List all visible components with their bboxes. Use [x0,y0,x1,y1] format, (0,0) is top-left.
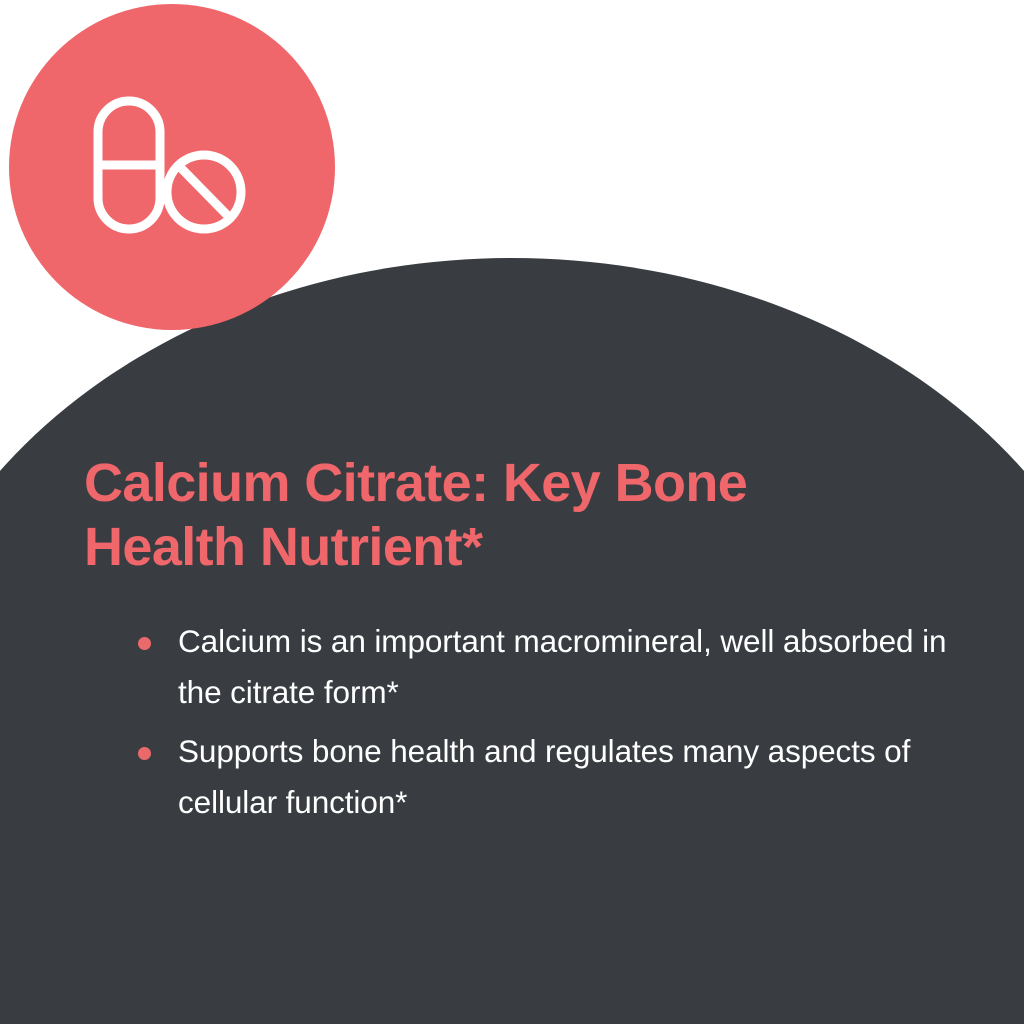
list-item: Calcium is an important macromineral, we… [128,616,968,718]
benefits-list: Calcium is an important macromineral, we… [128,616,968,836]
list-item-text: Supports bone health and regulates many … [178,733,910,820]
list-item: Supports bone health and regulates many … [128,726,968,828]
list-item-text: Calcium is an important macromineral, we… [178,623,946,710]
bullet-dot-icon [138,747,151,760]
infographic-card: Calcium Citrate: Key Bone Health Nutrien… [0,0,1024,1024]
page-title: Calcium Citrate: Key Bone Health Nutrien… [84,452,944,579]
bullet-dot-icon [138,637,151,650]
card-content: Calcium Citrate: Key Bone Health Nutrien… [0,0,1024,1024]
